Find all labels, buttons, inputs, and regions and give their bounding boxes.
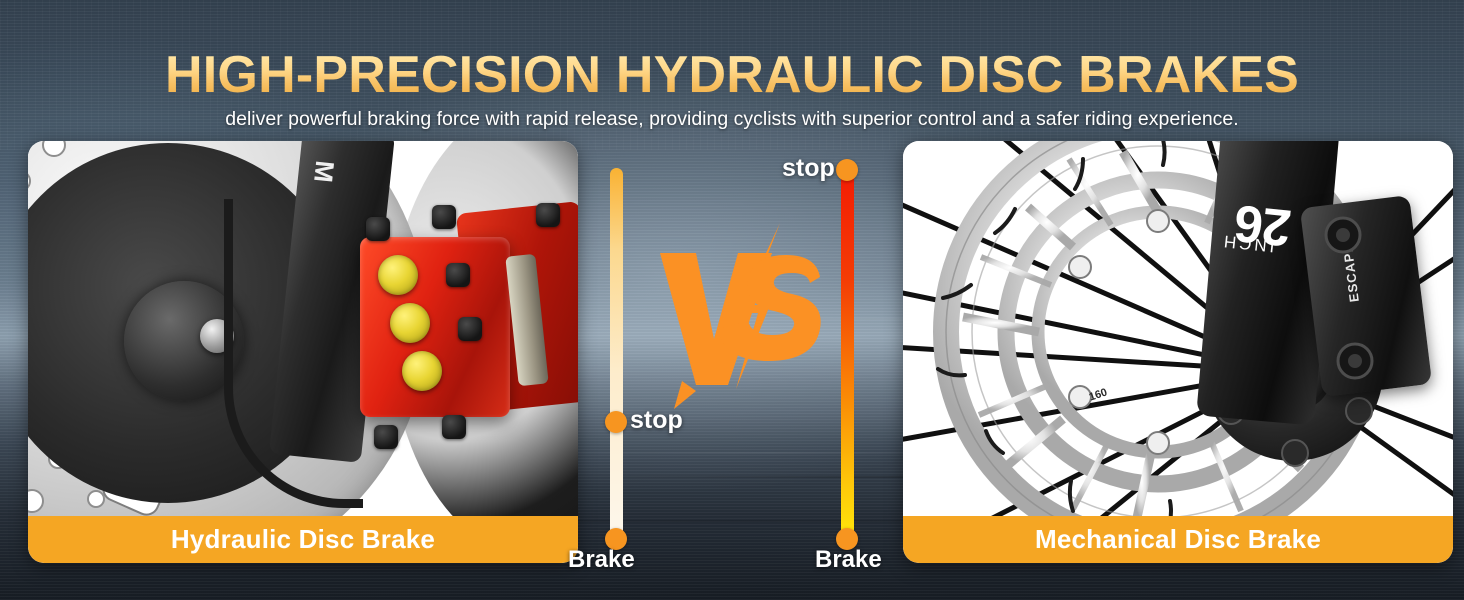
hydraulic-caliper — [350, 177, 570, 497]
caliper-bolt-4 — [458, 317, 482, 341]
mechanical-brake-card: 26 INCH ESCAPE 160 Mechanical Disc Brake — [903, 141, 1453, 563]
hydraulic-distance-bar — [610, 168, 623, 538]
caliper-bolt-7 — [536, 203, 560, 227]
page-subtitle: deliver powerful braking force with rapi… — [0, 108, 1464, 131]
product-banner: HIGH-PRECISION HYDRAULIC DISC BRAKES HIG… — [0, 0, 1464, 600]
hydraulic-brake-caption: Hydraulic Disc Brake — [28, 516, 578, 563]
mechanical-stop-dot — [836, 159, 858, 181]
caliper-bolt-6 — [442, 415, 466, 439]
fork-brand-logo: M — [307, 159, 340, 182]
hydraulic-brake-photo: M — [28, 141, 578, 521]
mechanical-distance-bar — [841, 168, 854, 538]
vs-lightning-icon — [652, 219, 832, 409]
mechanical-stop-label: stop — [782, 154, 835, 183]
caliper-bolt-2 — [432, 205, 456, 229]
mechanical-brake-label: Brake — [815, 546, 882, 574]
mechanical-brake-caption: Mechanical Disc Brake — [903, 516, 1453, 563]
mechanical-brake-photo: 26 INCH ESCAPE 160 — [903, 141, 1453, 521]
braking-distance-comparison: stop Brake stop Brake — [560, 141, 904, 581]
caliper-piston-1 — [378, 255, 418, 295]
caliper-bolt-1 — [366, 217, 390, 241]
caliper-piston-2 — [390, 303, 430, 343]
hydraulic-stop-label: stop — [630, 406, 683, 435]
hydraulic-brake-card: M Hydraulic Disc Brake — [28, 141, 578, 563]
hydraulic-brake-label: Brake — [568, 546, 635, 574]
caliper-bolt-5 — [374, 425, 398, 449]
caliper-mount-bolts — [1303, 191, 1453, 421]
page-title: HIGH-PRECISION HYDRAULIC DISC BRAKES — [0, 49, 1464, 101]
hydraulic-stop-dot — [605, 411, 627, 433]
caliper-bolt-3 — [446, 263, 470, 287]
caliper-piston-3 — [402, 351, 442, 391]
